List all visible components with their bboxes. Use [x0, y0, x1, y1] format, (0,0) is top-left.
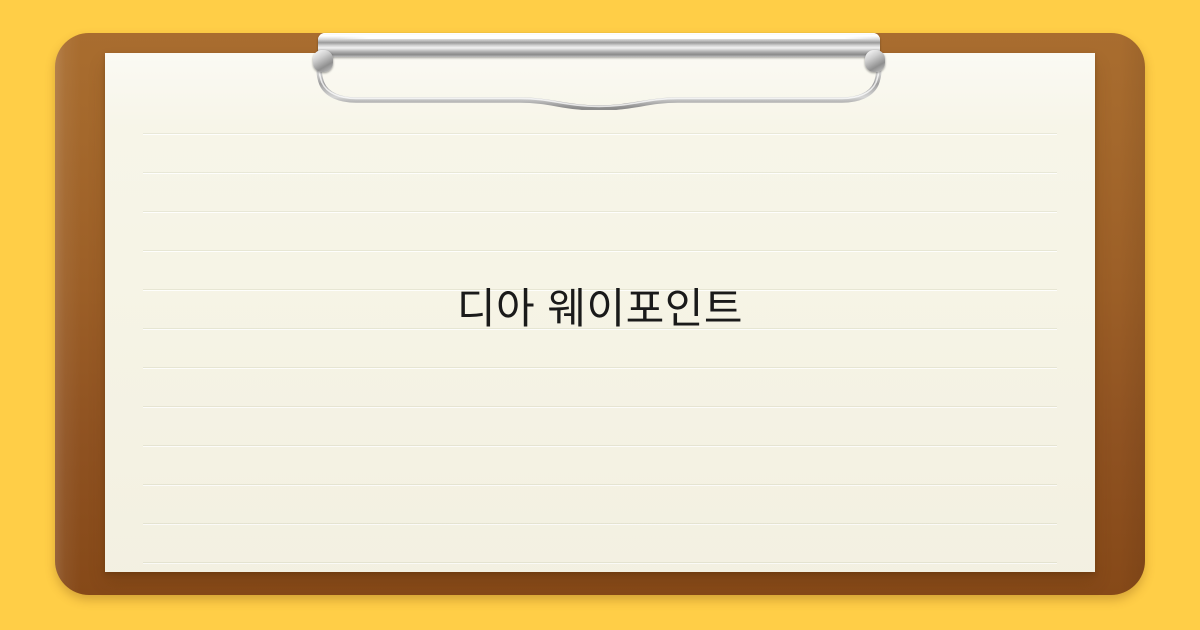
page-title: 디아 웨이포인트: [457, 283, 743, 336]
clip-bar-highlight: [336, 36, 876, 39]
title-container: 디아 웨이포인트: [105, 53, 1095, 572]
clipboard-clip: [310, 28, 888, 110]
clip-pivot-left-icon: [313, 50, 333, 72]
page-canvas: 디아 웨이포인트: [0, 0, 1200, 630]
clip-metal-bar: [318, 33, 880, 57]
clip-pivot-right-icon: [865, 50, 885, 72]
